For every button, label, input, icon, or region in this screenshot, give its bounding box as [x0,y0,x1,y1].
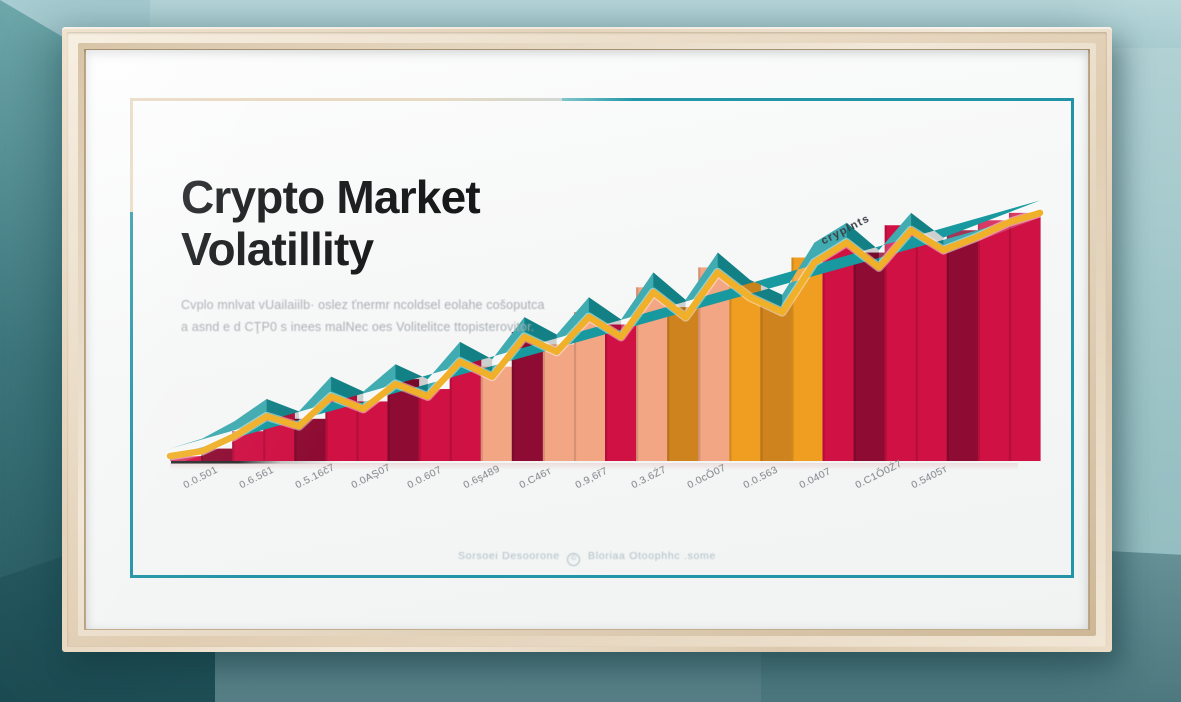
x-axis-tick-label: 0.5405ᴛ [909,463,949,491]
accent-border-top-tan [130,98,564,101]
copyright-icon: © [567,553,580,566]
scene-room: Crypto Market Volatillity Cvplo mnlvat v… [0,0,1181,702]
footer-suffix-text: Bloriaa Otoophhc .some [588,550,716,562]
footer-credit: Sorsoei Desoorone © Bloriaa Otoophhc .so… [86,550,1088,566]
accent-border-top-teal [562,98,1074,101]
x-axis-tick-label: 0.3.6Ź7 [629,464,668,492]
subtitle-text: Cvplo mnlvat vUailaiilb· oslez ťnermr nc… [181,295,551,338]
x-axis-tick-label: 0.C46ᴛ [517,465,553,491]
accent-border-left-tan [130,98,133,216]
accent-border-left-teal [130,212,133,578]
title-line-1: Crypto Market [181,171,480,223]
chart-x-axis-labels: 0.0.5010.6.5610.5.16č70.0AŞ070.0.6070.6ş… [170,468,1050,526]
accent-border-right [1071,98,1074,578]
accent-border-bottom [130,575,1074,578]
x-axis-tick-label: 0.6.561 [237,464,276,492]
x-axis-tick-label: 0.0.607 [405,464,444,492]
footer-source-text: Sorsoei Desoorone [458,550,560,562]
x-axis-tick-label: 0.6ş489 [461,463,502,492]
page-title: Crypto Market Volatillity [181,175,661,272]
x-axis-tick-label: 0.0.501 [181,464,220,492]
poster-canvas: Crypto Market Volatillity Cvplo mnlvat v… [86,50,1088,629]
x-axis-tick-label: 0.9,6ř7 [573,465,609,491]
poster-mat: Crypto Market Volatillity Cvplo mnlvat v… [86,50,1088,629]
x-axis-tick-label: 0.0.563 [741,464,780,492]
x-axis-tick-label: 0.0407 [797,465,833,491]
title-line-2: Volatillity [181,227,661,272]
